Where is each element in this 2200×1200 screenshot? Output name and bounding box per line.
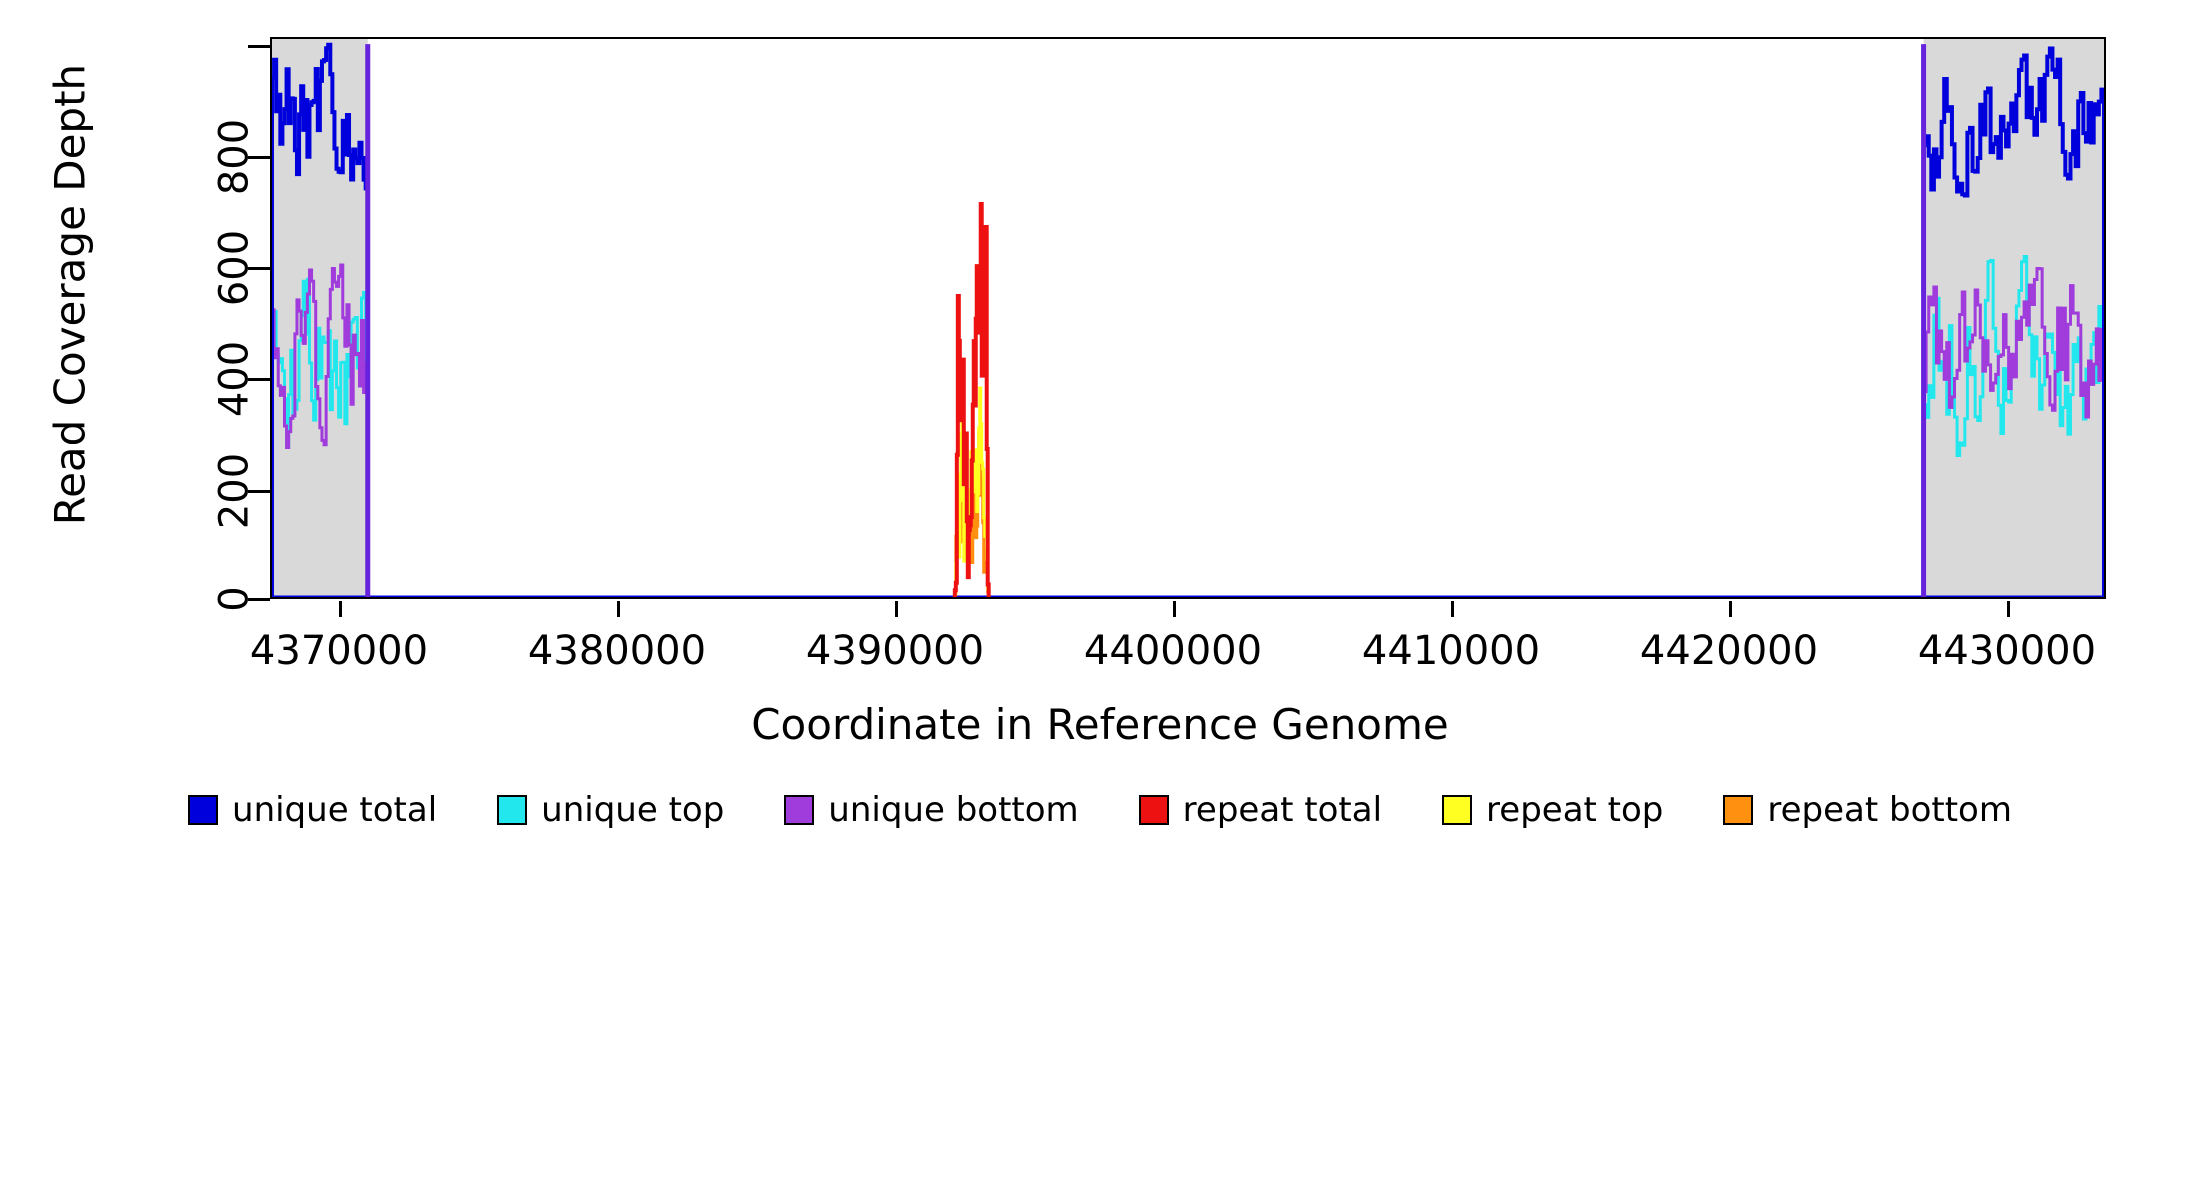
legend-item[interactable]: repeat bottom: [1723, 790, 2012, 830]
legend-label: repeat bottom: [1767, 790, 2012, 830]
x-tick-label: 4390000: [806, 628, 984, 674]
y-tick-label: 400: [211, 341, 257, 417]
x-tick-mark: [339, 601, 342, 617]
legend-label: repeat total: [1183, 790, 1382, 830]
plot-area: [270, 37, 2106, 599]
coverage-plot-page: Read Coverage Depth 0200400600800 437000…: [0, 0, 2200, 1200]
x-axis-title: Coordinate in Reference Genome: [0, 700, 2200, 749]
y-tick-label: 200: [211, 453, 257, 529]
legend-swatch-icon: [497, 795, 527, 825]
x-tick-label: 4420000: [1640, 628, 1818, 674]
legend-label: repeat top: [1486, 790, 1663, 830]
y-tick-label: 800: [211, 119, 257, 195]
x-tick-mark: [2007, 601, 2010, 617]
y-tick-label: 600: [211, 230, 257, 306]
legend-item[interactable]: unique total: [188, 790, 437, 830]
legend-label: unique top: [541, 790, 724, 830]
shaded-regions-layer: [272, 39, 2104, 597]
x-tick-label: 4430000: [1918, 628, 2096, 674]
legend-swatch-icon: [1723, 795, 1753, 825]
y-axis: Read Coverage Depth 0200400600800: [0, 0, 270, 640]
series-layer: [272, 44, 2104, 597]
legend-swatch-icon: [1442, 795, 1472, 825]
legend: unique totalunique topunique bottomrepea…: [0, 780, 2200, 840]
legend-item[interactable]: repeat total: [1139, 790, 1382, 830]
x-tick-mark: [1729, 601, 1732, 617]
x-tick-label: 4370000: [250, 628, 428, 674]
legend-item[interactable]: repeat top: [1442, 790, 1663, 830]
legend-swatch-icon: [784, 795, 814, 825]
y-tick-label: 0: [211, 586, 257, 611]
legend-item[interactable]: unique top: [497, 790, 724, 830]
x-tick-mark: [895, 601, 898, 617]
x-tick-mark: [1451, 601, 1454, 617]
y-axis-title: Read Coverage Depth: [46, 35, 95, 555]
coverage-traces: [272, 39, 2104, 597]
x-tick-label: 4410000: [1362, 628, 1540, 674]
legend-label: unique bottom: [828, 790, 1078, 830]
x-tick-label: 4400000: [1084, 628, 1262, 674]
x-tick-label: 4380000: [528, 628, 706, 674]
legend-item[interactable]: unique bottom: [784, 790, 1078, 830]
y-tick-mark: [248, 45, 270, 48]
legend-swatch-icon: [188, 795, 218, 825]
x-tick-mark: [617, 601, 620, 617]
legend-label: unique total: [232, 790, 437, 830]
legend-swatch-icon: [1139, 795, 1169, 825]
x-tick-mark: [1173, 601, 1176, 617]
